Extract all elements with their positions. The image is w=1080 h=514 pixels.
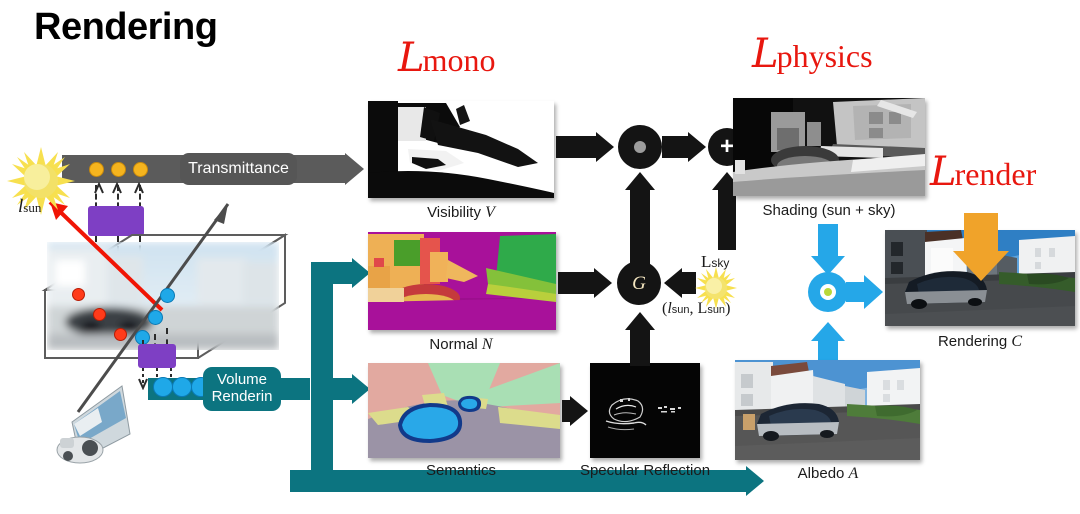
sample-dot-sun <box>133 162 148 177</box>
albedo-caption: Albedo A <box>798 465 859 483</box>
render-loss-arrow-head <box>953 251 1009 281</box>
cap-l-sun-symbol: L <box>698 300 708 317</box>
specular-image <box>590 363 700 458</box>
script-l-glyph: L <box>752 31 779 77</box>
product-to-sum-arrow <box>688 132 706 162</box>
brdf-operator-node: G <box>617 261 661 305</box>
shading-caption-text: Shading (sun + sky) <box>763 202 896 219</box>
lsky-to-sum-bar <box>718 190 736 250</box>
branch-to-semantics <box>311 378 356 400</box>
product-operator-node <box>618 125 662 169</box>
branch-to-normal <box>311 262 356 284</box>
composite-operator-node <box>808 272 848 312</box>
albedo-to-composite-arrow <box>811 322 845 341</box>
composite-core <box>824 288 832 296</box>
normal-caption-text: Normal <box>429 336 482 353</box>
semantics-image <box>368 363 560 458</box>
semantics-caption: Semantics <box>426 462 496 479</box>
volume-rendering-line-1: Volume <box>212 372 273 389</box>
sun-params-label: (lsun, Lsun) <box>662 300 730 318</box>
visibility-to-product-bar <box>556 136 600 158</box>
albedo-caption-symbol: A <box>849 465 859 482</box>
specular-to-brdf-bar <box>630 330 650 366</box>
loss-mono-subscript: mono <box>423 42 496 78</box>
render-loss-arrow-shaft <box>964 213 998 255</box>
camera-ray-sample-dot <box>160 288 175 303</box>
composite-to-rendering-arrow <box>864 275 883 309</box>
shading-to-composite-bar <box>818 224 838 260</box>
visibility-to-product-arrow <box>596 132 614 162</box>
sample-dot-sun <box>111 162 126 177</box>
script-l-glyph: L <box>930 149 957 195</box>
plus-operator-icon: + <box>720 135 734 159</box>
volume-output-dot <box>172 377 192 397</box>
rendering-caption: Rendering C <box>938 333 1022 351</box>
volume-rendering-label-pill[interactable]: Volume Renderin <box>203 367 281 411</box>
shading-caption: Shading (sun + sky) <box>763 202 896 219</box>
page-title: Rendering <box>34 6 217 49</box>
camera-ray-sample-dot <box>148 310 163 325</box>
albedo-caption-text: Albedo <box>798 465 849 482</box>
normal-to-brdf-bar <box>558 272 598 294</box>
loss-mono-label: Lmono <box>398 38 495 78</box>
rendering-caption-text: Rendering <box>938 333 1011 350</box>
albedo-image <box>735 360 920 460</box>
rendering-caption-symbol: C <box>1011 333 1022 350</box>
camera-icon <box>50 378 150 468</box>
brdf-to-product-arrow <box>625 172 655 190</box>
visibility-caption: Visibility V <box>427 204 495 222</box>
diagram-canvas: Rendering Lmono Lphysics Lrender Transmi… <box>0 0 1080 514</box>
specular-to-brdf-arrow <box>625 312 655 330</box>
normal-to-brdf-arrow <box>594 268 612 298</box>
script-l-glyph: L <box>398 35 425 81</box>
sun-intensity-label: lsun <box>18 196 41 218</box>
visibility-caption-symbol: V <box>485 204 495 221</box>
normal-caption: Normal N <box>429 336 492 354</box>
specular-caption-text: Specular Reflection <box>580 462 710 479</box>
specular-caption: Specular Reflection <box>580 462 710 479</box>
volume-output-dot <box>153 377 173 397</box>
branch-to-albedo-arrow <box>746 466 764 496</box>
loss-render-label: Lrender <box>930 152 1036 192</box>
mlp-block-volume <box>138 344 176 368</box>
brdf-label: G <box>632 274 646 293</box>
transmittance-label-pill[interactable]: Transmittance <box>180 153 297 185</box>
visibility-image <box>368 101 554 198</box>
shading-image <box>733 98 925 196</box>
loss-physics-label: Lphysics <box>752 34 873 74</box>
loss-physics-subscript: physics <box>777 38 873 74</box>
branch-spine <box>311 262 333 492</box>
visibility-caption-text: Visibility <box>427 204 485 221</box>
transmittance-arrow-head <box>345 153 364 185</box>
semantics-to-specular-arrow <box>570 396 588 426</box>
comma: , <box>690 300 698 317</box>
normal-image <box>368 232 556 330</box>
composite-ring <box>820 284 836 300</box>
odot-operator-icon <box>634 141 646 153</box>
sun-intensity-subscript: sun <box>23 200 41 215</box>
normal-caption-symbol: N <box>482 336 493 353</box>
loss-render-subscript: render <box>955 156 1037 192</box>
l-sun-subscript: sun <box>672 304 690 316</box>
sample-dot-sun <box>89 162 104 177</box>
branch-corner <box>290 470 312 492</box>
paren-close: ) <box>725 300 730 317</box>
volume-rendering-line-2: Renderin <box>212 389 273 406</box>
cap-l-sun-subscript: sun <box>707 304 725 316</box>
semantics-caption-text: Semantics <box>426 462 496 479</box>
sun-to-brdf-arrow <box>664 268 682 298</box>
